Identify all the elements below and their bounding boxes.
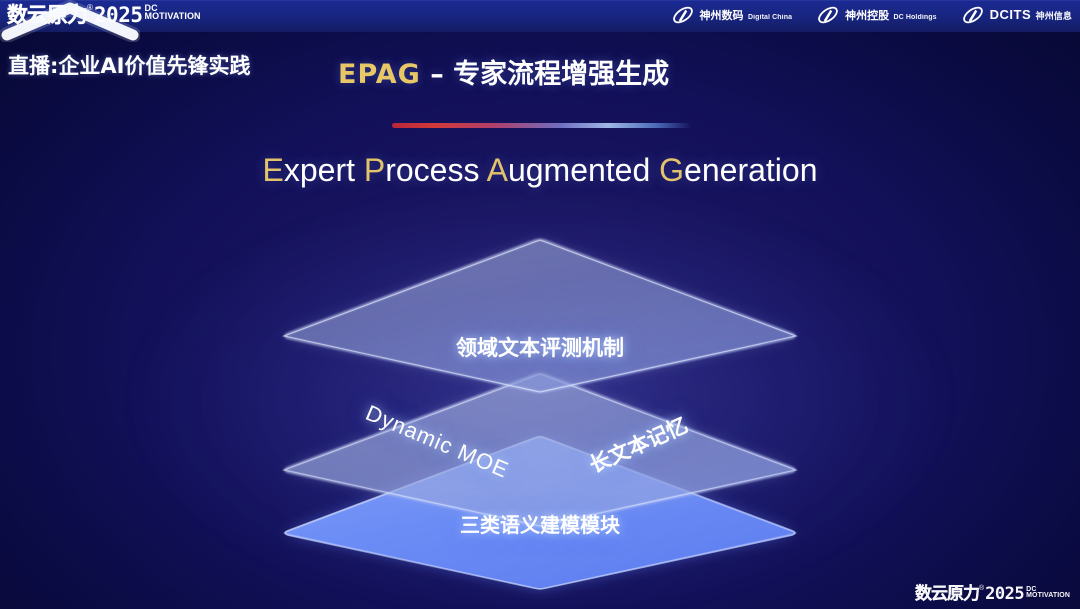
page-title-dash: –: [421, 59, 453, 90]
footer-brand-year: 2025: [985, 584, 1024, 604]
header-bar: 数云原力 ® 2025 DC MOTIVATION 神州数码 Digital C…: [0, 0, 1080, 32]
subtitle-expansion: Expert Process Augmented Generation: [0, 152, 1080, 189]
partner-logo-text: 神州控股 DC Holdings: [845, 7, 937, 24]
partner-logo-text: DCITS 神州信息: [990, 7, 1072, 24]
page-title-cn: 专家流程增强生成: [453, 59, 669, 90]
partner-name-en: 神州信息: [1036, 11, 1072, 21]
brand-registered-mark: ®: [87, 2, 93, 14]
stack-label-bottom: 三类语义建模模块: [0, 509, 1080, 538]
stack-layer-bottom: [284, 437, 796, 589]
subtitle-cap-a: A: [487, 152, 508, 188]
footer-brand-dc-motivation: DC MOTIVATION: [1026, 584, 1070, 599]
layered-stack-diagram: 领域文本评测机制 Dynamic MOE 长文本记忆 三类语义建模模块: [0, 0, 1080, 609]
partner-name-cn: 神州控股: [845, 10, 889, 22]
partner-name-en: DC Holdings: [894, 14, 937, 21]
stack-label-top: 领域文本评测机制: [0, 332, 1080, 362]
subtitle-rest-a: ugmented: [508, 152, 659, 188]
swirl-logo-icon: [961, 3, 985, 27]
partner-name-en: Digital China: [748, 14, 792, 21]
partner-logo-dcits: DCITS 神州信息: [961, 3, 1072, 27]
partner-name-cn: 神州数码: [700, 10, 744, 22]
footer-brand-motivation-label: MOTIVATION: [1026, 592, 1070, 599]
subtitle-cap-g: G: [659, 152, 684, 188]
partner-logo-text: 神州数码 Digital China: [700, 7, 793, 24]
stack-layer-middle: [284, 374, 796, 526]
partner-logo-group: 神州数码 Digital China 神州控股 DC Holdings: [671, 3, 1072, 27]
stack-svg: [0, 0, 1080, 609]
brand-name-cn: 数云原力: [7, 2, 87, 28]
subtitle-rest-g: eneration: [684, 152, 817, 188]
brand-year: 2025: [94, 2, 143, 28]
footer-brand-watermark: 数云原力 ® 2025 DC MOTIVATION: [915, 584, 1070, 604]
swirl-logo-icon: [671, 3, 695, 27]
stack-layer-top: [284, 240, 796, 392]
footer-brand-registered-mark: ®: [979, 584, 984, 593]
brand-motivation-label: MOTIVATION: [144, 12, 200, 21]
footer-brand-name-cn: 数云原力: [915, 584, 979, 604]
background-glow: [130, 185, 950, 609]
partner-logo-dc-holdings: 神州控股 DC Holdings: [816, 3, 937, 27]
page-title-abbr: EPAG: [338, 59, 421, 90]
stack-label-dynamic-moe: Dynamic MOE: [362, 400, 513, 484]
live-stream-title: 直播:企业AI价值先锋实践: [8, 50, 250, 80]
page-title: EPAG – 专家流程增强生成: [338, 52, 669, 91]
subtitle-cap-e: E: [263, 152, 284, 188]
subtitle-cap-p: P: [364, 152, 385, 188]
partner-name-cn: DCITS: [990, 7, 1032, 22]
brand-logo: 数云原力 ® 2025 DC MOTIVATION: [7, 2, 201, 28]
brand-dc-motivation: DC MOTIVATION: [144, 2, 200, 21]
presentation-slide: 数云原力 ® 2025 DC MOTIVATION 神州数码 Digital C…: [0, 0, 1080, 609]
gradient-divider: [392, 123, 692, 128]
subtitle-rest-e: xpert: [284, 152, 364, 188]
subtitle-rest-p: rocess: [385, 152, 486, 188]
stack-label-long-text-memory: 长文本记忆: [584, 409, 692, 479]
swirl-logo-icon: [816, 3, 840, 27]
partner-logo-digital-china: 神州数码 Digital China: [671, 3, 793, 27]
